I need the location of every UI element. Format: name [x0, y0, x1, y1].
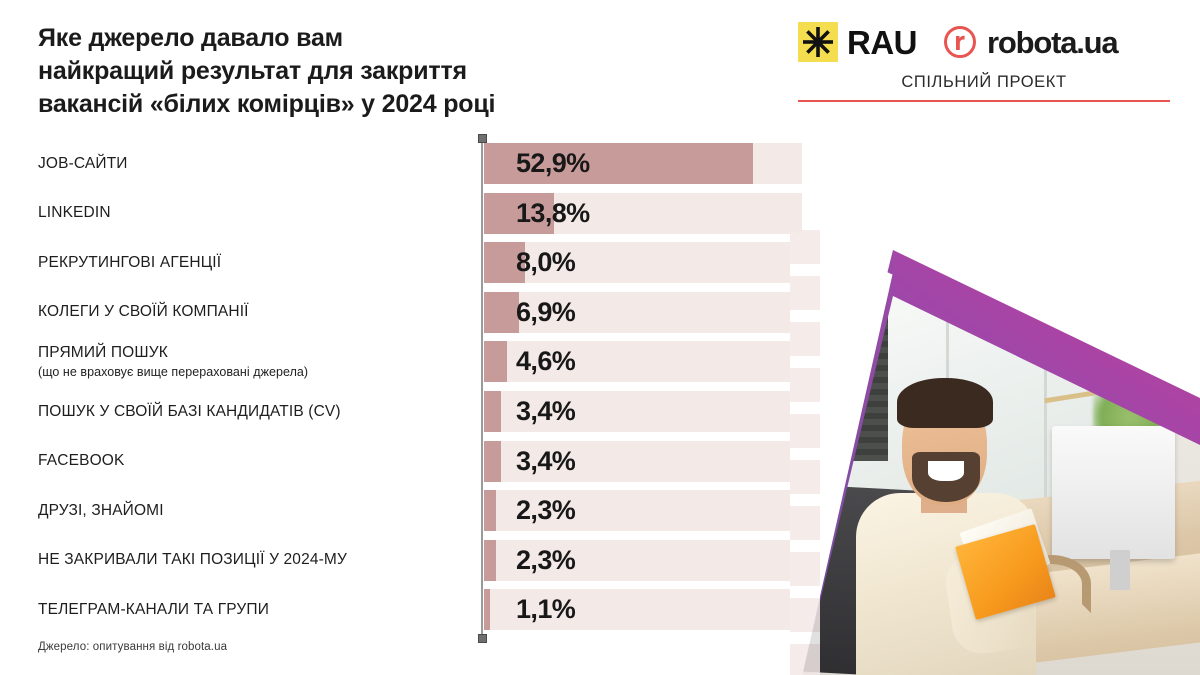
- bar-track: 6,9%: [484, 292, 802, 333]
- bar-label-text: НЕ ЗАКРИВАЛИ ТАКІ ПОЗИЦІЇ У 2024-МУ: [38, 551, 468, 569]
- bar-label: ПОШУК У СВОЇЙ БАЗІ КАНДИДАТІВ (CV): [38, 403, 468, 421]
- bar-label: ПРЯМИЙ ПОШУК(що не враховує вище перерах…: [38, 344, 468, 379]
- window-mullion: [1044, 266, 1047, 515]
- bar-label: LINKEDIN: [38, 204, 468, 222]
- bar-fill[interactable]: [484, 341, 507, 382]
- bar-label-text: ПРЯМИЙ ПОШУК: [38, 344, 468, 362]
- bar-track: 3,4%: [484, 441, 802, 482]
- bar-fill[interactable]: [484, 143, 753, 184]
- desk-lamp-head: [1129, 360, 1170, 393]
- bar-track: 1,1%: [484, 589, 802, 630]
- bar-fill[interactable]: [484, 441, 501, 482]
- bar-value-label: 3,4%: [516, 441, 575, 482]
- bar-label: FACEBOOK: [38, 452, 468, 470]
- bar-fill[interactable]: [484, 490, 496, 531]
- bar-fill[interactable]: [484, 193, 554, 234]
- bar-fill[interactable]: [484, 242, 525, 283]
- person: [856, 381, 1036, 675]
- bar-value-label: 4,6%: [516, 341, 575, 382]
- person-hair: [897, 378, 993, 428]
- bar-label-text: ТЕЛЕГРАМ-КАНАЛИ ТА ГРУПИ: [38, 601, 468, 619]
- decor-stripes: [790, 230, 820, 675]
- photo-composition: [790, 230, 1200, 675]
- person-smile: [928, 461, 964, 482]
- bar-label-text: ДРУЗІ, ЗНАЙОМІ: [38, 502, 468, 520]
- bar-track: 8,0%: [484, 242, 802, 283]
- bar-label: РЕКРУТИНГОВІ АГЕНЦІЇ: [38, 254, 468, 272]
- bar-track: 2,3%: [484, 540, 802, 581]
- bar-label-text: РЕКРУТИНГОВІ АГЕНЦІЇ: [38, 254, 468, 272]
- bar-track: 4,6%: [484, 341, 802, 382]
- bar-track: 3,4%: [484, 391, 802, 432]
- bar-value-label: 8,0%: [516, 242, 575, 283]
- bar-value-label: 3,4%: [516, 391, 575, 432]
- bar-track: 13,8%: [484, 193, 802, 234]
- bar-value-label: 2,3%: [516, 540, 575, 581]
- bar-label: КОЛЕГИ У СВОЇЙ КОМПАНІЇ: [38, 303, 468, 321]
- bar-fill[interactable]: [484, 292, 519, 333]
- infographic-canvas: Яке джерело давало вам найкращий результ…: [0, 0, 1200, 675]
- bar-label-text: FACEBOOK: [38, 452, 468, 470]
- source-note: Джерело: опитування від robota.ua: [38, 641, 227, 653]
- bar-label: JOB-САЙТИ: [38, 155, 468, 173]
- bar-fill[interactable]: [484, 391, 501, 432]
- bar-label: ТЕЛЕГРАМ-КАНАЛИ ТА ГРУПИ: [38, 601, 468, 619]
- bar-label-text: ПОШУК У СВОЇЙ БАЗІ КАНДИДАТІВ (CV): [38, 403, 468, 421]
- bar-label-text: LINKEDIN: [38, 204, 468, 222]
- bar-fill[interactable]: [484, 540, 496, 581]
- bar-label-text: КОЛЕГИ У СВОЇЙ КОМПАНІЇ: [38, 303, 468, 321]
- monitor: [1052, 426, 1175, 560]
- monitor-stand: [1110, 550, 1131, 590]
- bar-track: 52,9%: [484, 143, 802, 184]
- bar-track: 2,3%: [484, 490, 802, 531]
- bar-value-label: 1,1%: [516, 589, 575, 630]
- bar-fill[interactable]: [484, 589, 490, 630]
- bar-label: ДРУЗІ, ЗНАЙОМІ: [38, 502, 468, 520]
- bar-value-label: 6,9%: [516, 292, 575, 333]
- bar-label: НЕ ЗАКРИВАЛИ ТАКІ ПОЗИЦІЇ У 2024-МУ: [38, 551, 468, 569]
- bar-sublabel-text: (що не враховує вище перераховані джерел…: [38, 365, 468, 379]
- bar-label-text: JOB-САЙТИ: [38, 155, 468, 173]
- bar-value-label: 2,3%: [516, 490, 575, 531]
